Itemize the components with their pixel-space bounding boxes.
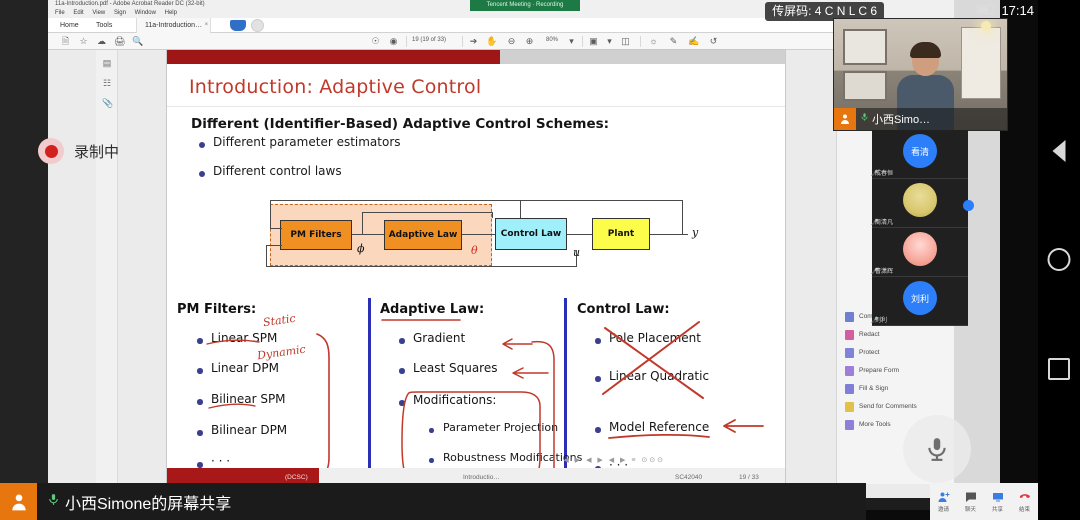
star-icon[interactable]: ☆ (78, 36, 89, 47)
search-icon[interactable]: 🔍 (132, 36, 143, 47)
participant-item-0[interactable]: 看清 🎤 成春恒 (872, 130, 968, 179)
end-label: 结束 (1019, 505, 1030, 513)
tool-prepare-form-label: Prepare Form (859, 362, 899, 379)
participant-name: 成春恒 (875, 168, 893, 177)
menu-item-help[interactable]: Help (165, 10, 177, 16)
fit-width-icon[interactable]: ◫ (620, 36, 631, 47)
pip-name-bar: 小西Simo… (834, 108, 1007, 130)
slide-heading: Different (Identifier-Based) Adaptive Co… (191, 116, 609, 132)
pen-icon (845, 384, 854, 394)
tool-send-label: Send for Comments (859, 398, 917, 415)
al-item-2: Modifications: (413, 393, 496, 407)
al-subitem-0: Parameter Projection (443, 421, 558, 434)
send-icon (845, 402, 854, 412)
footer-left: (DCSC) (285, 474, 308, 481)
page-indicator[interactable]: 19 (19 of 33) (412, 37, 446, 43)
signal-phi: ϕ (357, 242, 365, 255)
column-heading-adaptive-law: Adaptive Law: (380, 302, 484, 317)
share-button[interactable]: 共享 (984, 483, 1011, 520)
chevron-down-icon[interactable]: ▾ (566, 36, 577, 47)
cl-item-1: Linear Quadratic (609, 369, 709, 383)
block-plant: Plant (592, 218, 650, 250)
zoom-in-icon[interactable]: ⊕ (524, 36, 535, 47)
block-diagram: PM Filters Adaptive Law Control Law Plan… (262, 200, 692, 272)
recording-banner: Tencent Meeting · Recording (470, 0, 580, 11)
tool-fill-sign-label: Fill & Sign (859, 380, 888, 397)
ink-annotation-static: Static (262, 312, 296, 329)
block-control-law: Control Law (495, 218, 567, 250)
bookmarks-icon[interactable]: ☷ (102, 78, 112, 88)
microphone-icon (860, 110, 869, 128)
participant-name: 曹潇辉 (875, 266, 893, 275)
clock-text: 17:14 (1001, 3, 1034, 18)
acrobat-logo-icon (230, 20, 246, 31)
pdf-page: Introduction: Adaptive Control Different… (167, 50, 785, 484)
pm-item-1: Linear DPM (211, 361, 279, 375)
invite-label: 邀请 (938, 505, 949, 513)
acrobat-left-rail: ▤ ☷ 📎 (96, 50, 118, 484)
battery-icon (977, 5, 994, 14)
help-icon[interactable]: ☉ (370, 36, 381, 47)
tool-send-for-comments[interactable]: Send for Comments (845, 398, 951, 415)
chat-label: 聊天 (965, 505, 976, 513)
cl-item-2: Model Reference (609, 420, 709, 434)
floating-mic-button[interactable] (903, 415, 971, 483)
acrobat-window: 11a-Introduction.pdf - Adobe Acrobat Rea… (48, 0, 954, 508)
microphone-icon (924, 433, 950, 465)
print-icon[interactable]: 🖨 (114, 36, 125, 47)
tab-tools[interactable]: Tools (88, 18, 120, 33)
slide-title: Introduction: Adaptive Control (189, 76, 481, 98)
tab-home[interactable]: Home (52, 18, 87, 33)
meeting-bottom-bar: 小西Simone的屏幕共享 (0, 483, 866, 520)
menu-item-sign[interactable]: Sign (114, 10, 126, 16)
recording-badge: 录制中 (38, 138, 119, 164)
share-icon (992, 491, 1004, 503)
recording-badge-label: 录制中 (74, 141, 119, 162)
highlight-icon[interactable]: ✎ (668, 36, 679, 47)
redact-icon (845, 330, 854, 340)
al-item-0: Gradient (413, 331, 465, 345)
footer-page: 19 / 33 (739, 474, 759, 481)
column-heading-control-law: Control Law: (577, 302, 670, 317)
signature-icon[interactable]: ✍ (688, 36, 699, 47)
participant-item-3[interactable]: 刘利 🎤 刘利 (872, 277, 968, 326)
form-icon (845, 366, 854, 376)
thumbnails-icon[interactable]: ▤ (102, 58, 112, 68)
signal-theta: θ (471, 244, 478, 257)
participant-list: 看清 🎤 成春恒 🎤 周清凡 🎤 曹潇辉 刘利 🎤 刘利 (872, 130, 968, 326)
pip-door (961, 27, 1001, 99)
pip-name-label: 小西Simo… (872, 111, 930, 127)
tool-protect[interactable]: Protect (845, 344, 951, 361)
zoom-level[interactable]: 80% (546, 37, 558, 43)
desktop-left-gutter (0, 0, 48, 510)
participant-item-2[interactable]: 🎤 曹潇辉 (872, 228, 968, 277)
al-item-1: Least Squares (413, 361, 497, 375)
chat-icon (965, 491, 977, 503)
chat-button[interactable]: 聊天 (957, 483, 984, 520)
shield-icon (845, 348, 854, 358)
tool-fill-sign[interactable]: Fill & Sign (845, 380, 951, 397)
home-icon[interactable] (1048, 248, 1071, 271)
more-tools-icon (845, 420, 854, 430)
android-nav-bar (1038, 0, 1080, 520)
share-label: 共享 (992, 505, 1003, 513)
tab-document-label: 11a-Introduction… (145, 22, 202, 29)
menu-item-edit[interactable]: Edit (73, 10, 83, 16)
attachments-icon[interactable]: 📎 (102, 98, 112, 108)
screen-share-label: 小西Simone的屏幕共享 (65, 490, 231, 514)
beamer-nav-dots: ◀ ▶ ◀ ▶ ◀ ▶ ≡ ⊙⊙⊙ (563, 456, 665, 464)
pm-item-3: Bilinear DPM (211, 423, 287, 437)
column-heading-pm-filters: PM Filters: (177, 302, 256, 317)
webcam-pip[interactable]: 小西Simo… (833, 18, 1008, 131)
hand-tool-icon[interactable]: ✋ (486, 36, 497, 47)
tool-more-tools-label: More Tools (859, 416, 891, 433)
footer-course: SC42040 (675, 474, 702, 481)
pm-item-0: Linear SPM (211, 331, 277, 345)
cast-code-value: 4 C N L C 6 (815, 4, 877, 18)
menu-item-window[interactable]: Window (135, 10, 156, 16)
select-cursor-icon[interactable]: ➔ (468, 36, 479, 47)
pm-item-2: Bilinear SPM (211, 392, 286, 406)
microphone-icon (47, 491, 60, 513)
record-indicator-icon (38, 138, 64, 164)
pip-wall-frame-1 (843, 29, 887, 65)
sharer-avatar-icon (0, 483, 37, 520)
column-separator-1 (368, 298, 371, 484)
page-fit-icon[interactable]: ▣ (588, 36, 599, 47)
participant-name: 周清凡 (875, 217, 893, 226)
block-adaptive-law: Adaptive Law (384, 220, 462, 250)
back-icon[interactable] (1053, 140, 1066, 162)
comment-icon (845, 312, 854, 322)
undo-icon[interactable]: ↺ (708, 36, 719, 47)
signal-u: u (573, 246, 580, 259)
slide-header-accent (167, 50, 500, 64)
participant-name: 刘利 (875, 315, 887, 324)
pm-item-4: · · · (211, 454, 230, 468)
active-speaker-dot (963, 200, 974, 211)
pip-wall-frame-2 (843, 71, 887, 101)
block-pm-filters: PM Filters (280, 220, 352, 250)
tool-prepare-form[interactable]: Prepare Form (845, 362, 951, 379)
acrobat-toolbar: 🗎 ☆ ☁ 🖨 🔍 ☉ ◉ 19 (19 of 33) ➔ ✋ ⊖ ⊕ 80% … (48, 33, 954, 50)
recents-icon[interactable] (1048, 358, 1070, 380)
cl-item-0: Pole Placement (609, 331, 701, 345)
tool-redact[interactable]: Redact (845, 326, 951, 343)
tool-redact-label: Redact (859, 326, 880, 343)
slide-title-rule (167, 106, 785, 107)
invite-button[interactable]: 邀请 (930, 483, 957, 520)
menu-item-view[interactable]: View (92, 10, 105, 16)
chevron-down-icon-2[interactable]: ▾ (604, 36, 615, 47)
save-icon[interactable]: 🗎 (60, 36, 71, 47)
avatar: 看清 (903, 134, 937, 168)
cast-code-label: 传屏码: (772, 4, 811, 18)
menu-item-file[interactable]: File (55, 10, 65, 16)
al-subitem-1: Robustness Modifications (443, 451, 582, 464)
end-call-button[interactable]: 结束 (1011, 483, 1038, 520)
comment-icon[interactable]: ☼ (648, 36, 659, 47)
participant-avatar-icon (834, 108, 856, 130)
zoom-out-icon[interactable]: ⊖ (506, 36, 517, 47)
slide-footer: (DCSC) Introductio… SC42040 19 / 33 (167, 468, 785, 484)
close-icon[interactable]: × (205, 18, 209, 33)
avatar: 刘利 (903, 281, 937, 315)
bullet-item-1: Different control laws (213, 164, 342, 178)
bullet-item-0: Different parameter estimators (213, 135, 401, 149)
cloud-icon[interactable]: ☁ (96, 36, 107, 47)
participant-item-1[interactable]: 🎤 周清凡 (872, 179, 968, 228)
tool-protect-label: Protect (859, 344, 880, 361)
avatar (903, 183, 937, 217)
person-add-icon (938, 491, 950, 503)
ink-annotation-dynamic: Dynamic (256, 343, 306, 363)
tab-document[interactable]: 11a-Introduction… × (136, 18, 211, 33)
pip-lamp (981, 21, 991, 31)
end-call-icon (1019, 491, 1031, 503)
meeting-action-bar: 邀请 聊天 共享 结束 (930, 483, 1038, 520)
footer-center: Introductio… (463, 474, 500, 481)
avatar (903, 232, 937, 266)
account-icon[interactable]: ◉ (388, 36, 399, 47)
avatar[interactable] (251, 19, 264, 32)
signal-y: y (692, 226, 698, 239)
slide-header-bar (167, 50, 785, 64)
screenshot-root: 11a-Introduction.pdf - Adobe Acrobat Rea… (0, 0, 1080, 520)
